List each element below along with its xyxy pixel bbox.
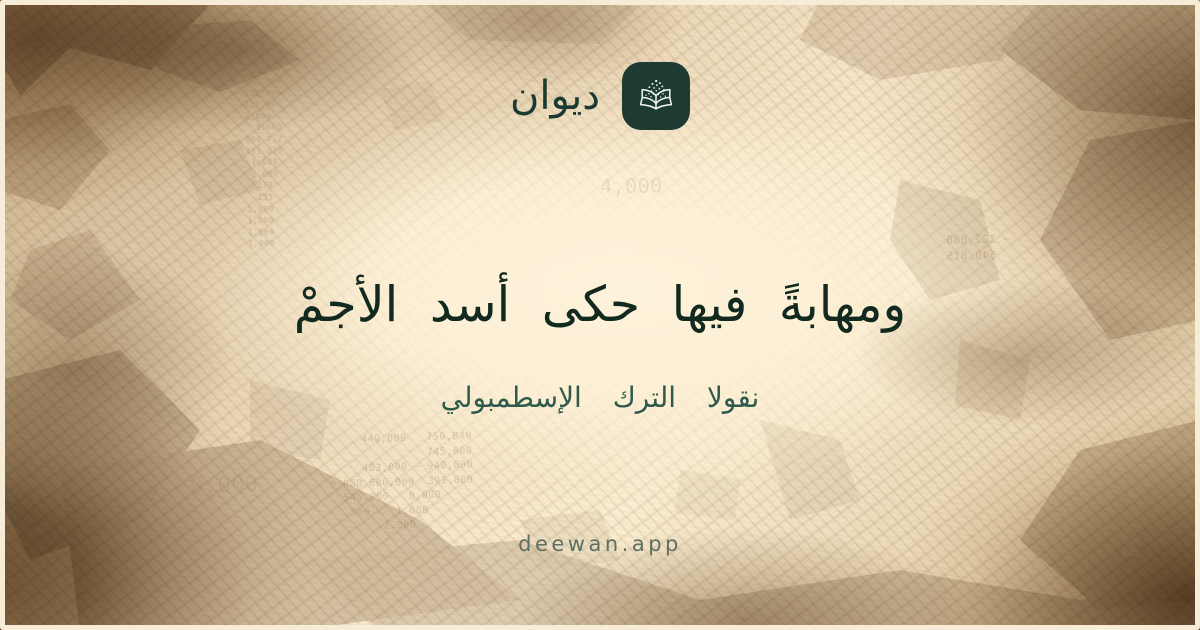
- poem-verse: ومهابةً فيها حكى أسد الأجمْ: [0, 272, 1200, 338]
- social-share-card: 40,000 – 48,900 44,050 145,000 480,500 4…: [0, 0, 1200, 630]
- site-url: deewan.app: [0, 534, 1200, 555]
- app-name: ديوان: [510, 76, 600, 116]
- app-logo-mark: [622, 62, 690, 130]
- open-book-sparkles-icon: [634, 74, 678, 118]
- poet-name: نقولا الترك الإسطمبولي: [0, 378, 1200, 417]
- brand-lockup: ديوان: [510, 62, 690, 130]
- card-content: ديوان ومهابةً فيها حكى أسد الأجمْ نقولا …: [0, 0, 1200, 630]
